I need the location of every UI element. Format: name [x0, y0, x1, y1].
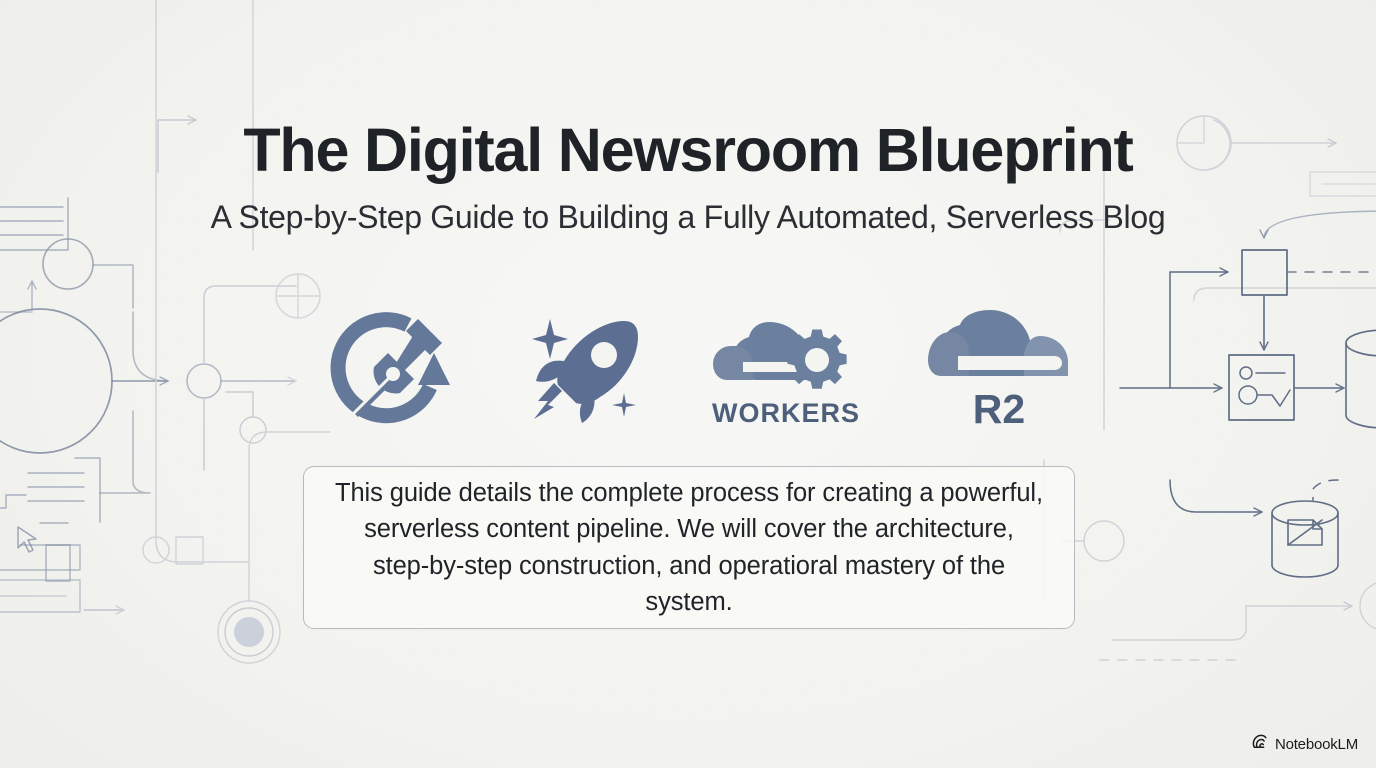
pen-nib-refresh-icon [330, 309, 452, 427]
icon-cell-cloudflare-r2: R2 [928, 300, 1070, 435]
icon-cell-content-automation [330, 300, 452, 435]
slide-content: The Digital Newsroom Blueprint A Step-by… [0, 0, 1376, 768]
summary-card: This guide details the complete process … [303, 466, 1075, 629]
cloudflare-workers-icon [713, 308, 859, 398]
technology-icon-row: WORKERS R2 [330, 300, 1070, 435]
cloudflare-workers-label: WORKERS [712, 400, 860, 427]
notebooklm-label: NotebookLM [1275, 736, 1358, 753]
cloudflare-r2-icon [928, 306, 1070, 388]
icon-cell-launch [520, 300, 644, 435]
rocket-icon [520, 309, 644, 427]
notebooklm-watermark: NotebookLM [1252, 734, 1358, 754]
icon-cell-cloudflare-workers: WORKERS [712, 300, 860, 435]
notebooklm-icon [1252, 734, 1269, 754]
summary-text: This guide details the complete process … [304, 475, 1074, 620]
cloudflare-r2-label: R2 [973, 389, 1025, 430]
page-subtitle: A Step-by-Step Guide to Building a Fully… [0, 197, 1376, 237]
page-title: The Digital Newsroom Blueprint [0, 118, 1376, 184]
slide-canvas: The Digital Newsroom Blueprint A Step-by… [0, 0, 1376, 768]
